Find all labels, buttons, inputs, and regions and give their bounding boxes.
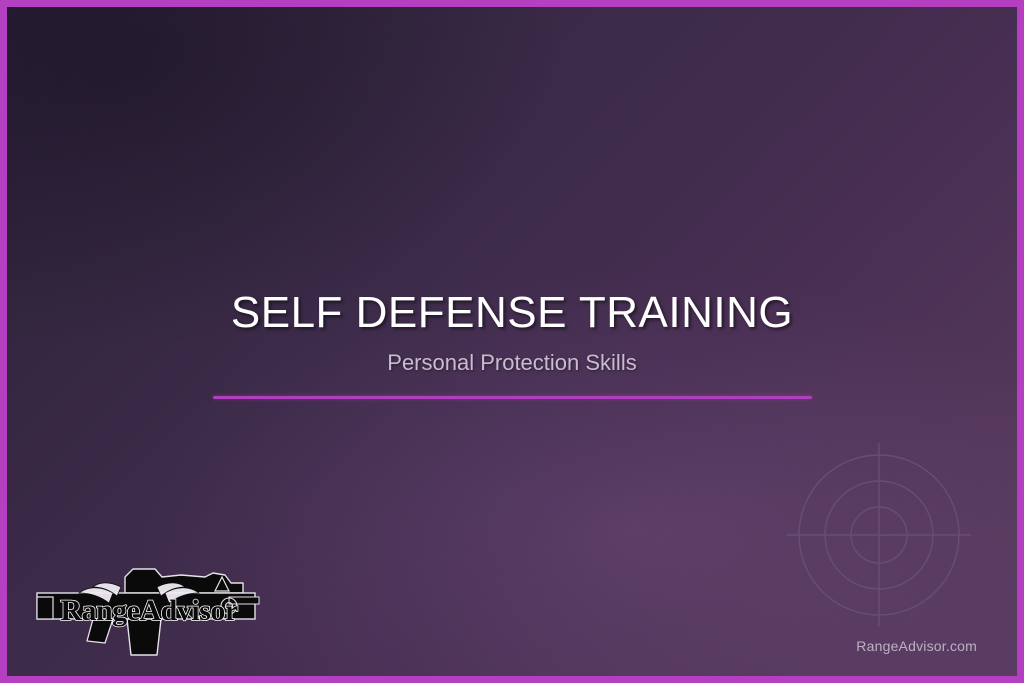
title-block: SELF DEFENSE TRAINING Personal Protectio… [7,287,1017,399]
footer-website: RangeAdvisor.com [856,638,977,654]
target-crosshair-icon [779,435,979,635]
page-title: SELF DEFENSE TRAINING [7,287,1017,339]
page-subtitle: Personal Protection Skills [7,350,1017,376]
slide-canvas: SELF DEFENSE TRAINING Personal Protectio… [0,0,1024,683]
brand-logo: RangeAdvisor [29,563,269,663]
title-divider [213,396,812,399]
brand-wordmark: RangeAdvisor [60,594,238,627]
